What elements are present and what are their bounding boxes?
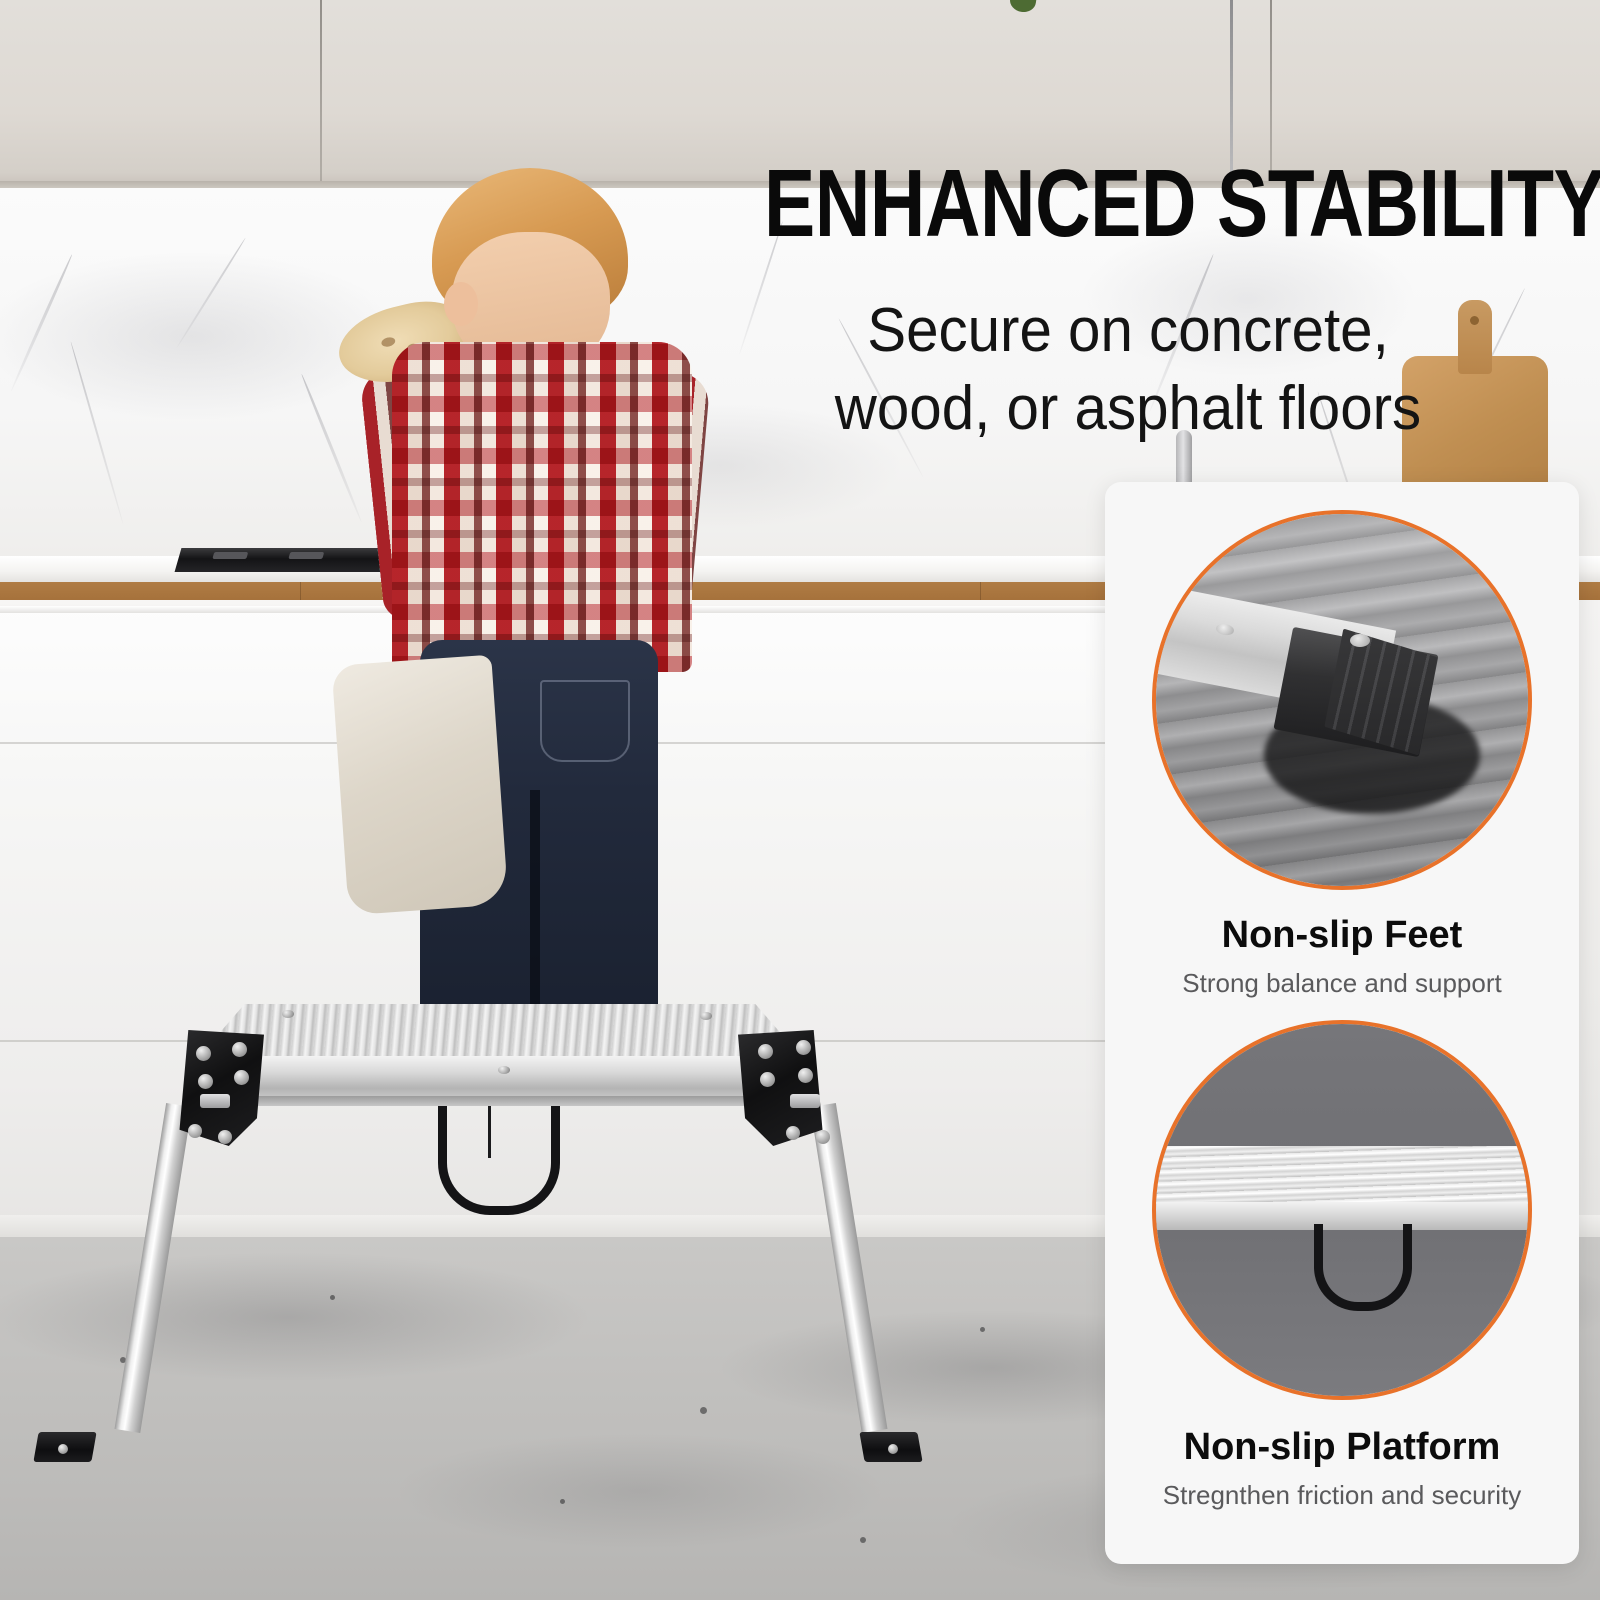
subheadline: Secure on concrete, wood, or asphalt flo… xyxy=(688,292,1568,448)
non-slip-platform-photo xyxy=(1152,1020,1532,1400)
feature-description-2: Stregnthen friction and security xyxy=(1105,1480,1579,1511)
stool-latch-left xyxy=(200,1094,230,1108)
headline: ENHANCED STABILITY xyxy=(764,156,1500,252)
product-marketing-image: ENHANCED STABILITY Secure on concrete, w… xyxy=(0,0,1600,1600)
feature-title-2: Non-slip Platform xyxy=(1105,1426,1579,1469)
stool-leg-left xyxy=(115,1103,192,1433)
non-slip-feet-photo xyxy=(1152,510,1532,890)
subheadline-line-2: wood, or asphalt floors xyxy=(688,370,1568,448)
stool-latch-right xyxy=(790,1094,820,1108)
feature-card: Non-slip Feet Strong balance and support… xyxy=(1105,482,1579,1564)
feature-title-1: Non-slip Feet xyxy=(1105,914,1579,957)
subheadline-line-1: Secure on concrete, xyxy=(688,292,1568,370)
stool-platform-lip xyxy=(196,1096,804,1106)
stool-leg-right xyxy=(810,1103,887,1433)
feature-description-1: Strong balance and support xyxy=(1105,968,1579,999)
stool-hinge-right xyxy=(738,1030,826,1146)
